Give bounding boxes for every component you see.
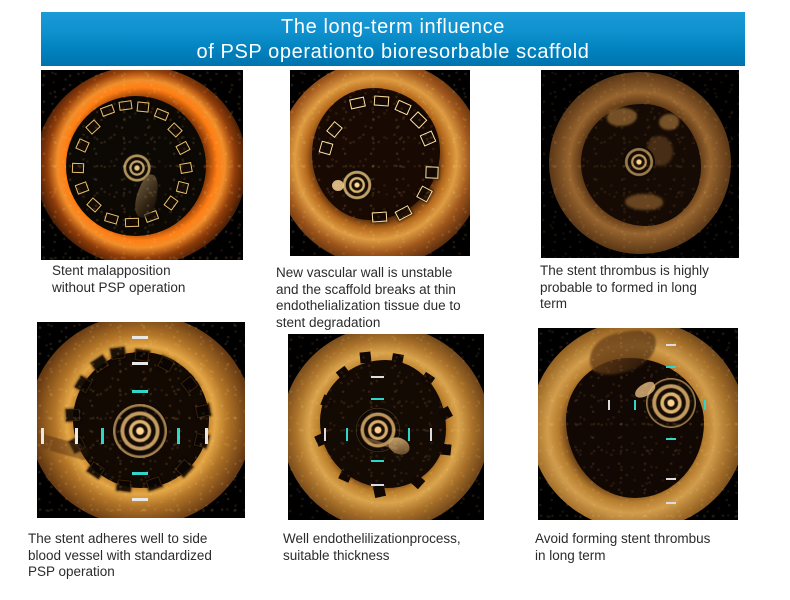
covered-strut [439, 443, 451, 455]
caption-line: stent degradation [276, 315, 526, 332]
scale-tick-white [608, 400, 610, 410]
caption-line: in long term [535, 548, 755, 565]
caption-line: The stent adheres well to side [28, 531, 278, 548]
scale-tick-white [132, 336, 148, 339]
caption-line: term [540, 296, 755, 313]
caption-line: endothelialization tissue due to [276, 298, 526, 315]
caption-line: Well endothelilizationprocess, [283, 531, 533, 548]
scaffold-strut [425, 166, 438, 178]
scaffold-strut [116, 479, 131, 491]
imaging-catheter [623, 146, 655, 178]
slide-title-line-2: of PSP operationto bioresorbable scaffol… [197, 40, 590, 65]
scale-tick-white [666, 502, 676, 504]
scale-tick-white [666, 478, 676, 480]
scaffold-strut [179, 162, 193, 174]
slide-title-banner: The long-term influence of PSP operation… [41, 12, 745, 66]
caption-line: suitable thickness [283, 548, 533, 565]
covered-strut [391, 353, 404, 366]
scale-tick-cyan [666, 366, 676, 368]
imaging-catheter [340, 168, 374, 202]
scale-tick-cyan [408, 428, 410, 441]
scaffold-strut [372, 211, 388, 222]
scale-tick-white [430, 428, 432, 441]
scaffold-strut [118, 100, 132, 111]
scale-tick-cyan [704, 400, 706, 410]
panel-3-caption: The stent thrombus is highly probable to… [540, 263, 755, 313]
scale-tick-white [324, 428, 326, 441]
scaffold-strut [125, 218, 139, 227]
scale-tick-white [132, 498, 148, 501]
panel-1 [41, 70, 243, 260]
scale-tick-cyan [371, 398, 384, 400]
panel-1-caption: Stent malapposition without PSP operatio… [52, 263, 262, 296]
panel-3 [541, 70, 739, 258]
oct-stent-thrombus-image [541, 70, 739, 258]
scale-tick-white [41, 428, 44, 444]
oct-stent-malapposition-image [41, 70, 243, 260]
oct-avoid-thrombus-image [538, 328, 738, 520]
slide-title-line-1: The long-term influence [281, 15, 505, 40]
slide-canvas: The long-term influence of PSP operation… [0, 0, 790, 600]
panel-6 [538, 328, 738, 520]
scale-tick-cyan [132, 472, 148, 475]
scaffold-strut [72, 163, 84, 173]
caption-line: blood vessel with standardized [28, 548, 278, 565]
scaffold-strut [137, 101, 150, 112]
scale-tick-cyan [132, 390, 148, 393]
oct-scaffold-break-image [290, 70, 470, 256]
imaging-catheter [113, 404, 167, 458]
caption-line: New vascular wall is unstable [276, 265, 526, 282]
panel-4-caption: The stent adheres well to side blood ves… [28, 531, 278, 581]
covered-strut [359, 351, 371, 363]
scaffold-strut [66, 409, 80, 421]
caption-line: probable to formed in long [540, 280, 755, 297]
panel-5-caption: Well endothelilizationprocess, suitable … [283, 531, 533, 564]
scale-tick-white [666, 344, 676, 346]
scale-tick-cyan [177, 428, 180, 444]
oct-well-endothelization-image [288, 334, 484, 520]
scale-tick-cyan [371, 460, 384, 462]
thrombus-mass [625, 194, 663, 210]
scaffold-strut [134, 349, 149, 362]
caption-line: PSP operation [28, 564, 278, 581]
scale-tick-white [75, 428, 78, 444]
caption-line: Avoid forming stent thrombus [535, 531, 755, 548]
panel-6-caption: Avoid forming stent thrombus in long ter… [535, 531, 755, 564]
thrombus-mass [659, 114, 679, 130]
scale-tick-cyan [634, 400, 636, 410]
catheter-marker [332, 180, 344, 191]
scale-tick-cyan [666, 438, 676, 440]
caption-line: without PSP operation [52, 280, 262, 297]
panel-5 [288, 334, 484, 520]
scale-tick-white [132, 362, 148, 365]
scale-tick-cyan [101, 428, 104, 444]
panel-2-caption: New vascular wall is unstable and the sc… [276, 265, 526, 331]
panel-4 [37, 322, 245, 518]
caption-line: The stent thrombus is highly [540, 263, 755, 280]
caption-line: Stent malapposition [52, 263, 262, 280]
scaffold-strut [374, 95, 390, 106]
scale-tick-cyan [346, 428, 348, 441]
scale-tick-white [371, 484, 384, 486]
oct-stent-adheres-well-image [37, 322, 245, 518]
scale-tick-white [205, 428, 208, 444]
panel-2 [290, 70, 470, 256]
scale-tick-white [371, 376, 384, 378]
scaffold-strut [110, 347, 125, 360]
covered-strut [373, 485, 386, 498]
caption-line: and the scaffold breaks at thin [276, 282, 526, 299]
